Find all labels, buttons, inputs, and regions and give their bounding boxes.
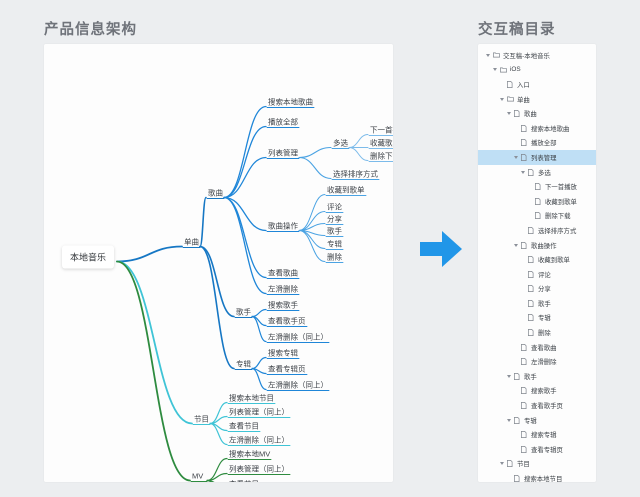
mindmap-node[interactable]: 列表管理 (268, 149, 298, 157)
chevron-down-icon[interactable] (505, 419, 512, 422)
file-icon (519, 139, 529, 146)
mindmap-node[interactable]: 搜索歌手 (268, 301, 298, 309)
mindmap-node[interactable]: 收藏到歌单 (327, 186, 365, 194)
tree-row[interactable]: 歌曲 (478, 106, 596, 121)
mindmap-node[interactable]: 选择排序方式 (333, 170, 378, 178)
tree-row-label: 下一首播放 (545, 182, 577, 191)
tree-row-label: 歌曲 (524, 109, 537, 118)
tree-row-label: 搜索本地节目 (524, 474, 562, 482)
caret-glyph (493, 68, 497, 71)
caret-glyph (514, 244, 518, 247)
mindmap-node[interactable]: 列表管理（同上） (229, 408, 289, 416)
tree-row[interactable]: 收藏到歌单 (478, 194, 596, 209)
tree-row-label: 单曲 (517, 95, 530, 104)
tree-row[interactable]: 搜索歌手 (478, 384, 596, 399)
caret-glyph (507, 112, 511, 115)
mindmap-canvas[interactable]: 本地音乐 搜索本地歌曲播放全部列表管理多选下一首播放收藏歌单删除下载选择排序方式… (44, 44, 393, 482)
tree-row-label: 评论 (538, 270, 551, 279)
right-arrow-icon (418, 226, 464, 277)
file-icon (519, 446, 529, 453)
file-icon (526, 300, 536, 307)
mindmap-node[interactable]: 列表管理（同上） (229, 465, 289, 473)
tree-row-label: 查看歌手页 (531, 401, 563, 410)
tree-row-label: 播放全部 (531, 138, 557, 147)
mindmap-node[interactable]: 查看歌曲 (268, 269, 298, 277)
tree-row[interactable]: 交互稿-本地音乐 (478, 48, 596, 63)
tree-row[interactable]: 下一首播放 (478, 179, 596, 194)
chevron-down-icon[interactable] (491, 68, 498, 71)
mindmap-node[interactable]: 专辑 (236, 360, 251, 368)
tree-row[interactable]: 查看歌曲 (478, 340, 596, 355)
caret-glyph (507, 375, 511, 378)
file-icon (526, 314, 536, 321)
mindmap-node[interactable]: 删除下载 (370, 152, 393, 160)
tree-row-label: 收藏到歌单 (538, 255, 570, 264)
mindmap-node[interactable]: 多选 (333, 139, 348, 147)
mindmap-node[interactable]: 删除 (327, 253, 342, 261)
tree-row[interactable]: 播放全部 (478, 136, 596, 151)
mindmap-node[interactable]: 歌手 (236, 308, 251, 316)
tree-row-label: 搜索专辑 (531, 430, 557, 439)
mindmap-node[interactable]: 查看歌手页 (268, 317, 306, 325)
tree-row[interactable]: 左滑删除 (478, 354, 596, 369)
file-icon (519, 402, 529, 409)
file-icon (519, 344, 529, 351)
tree-row-label: 查看歌曲 (531, 343, 557, 352)
tree-row[interactable]: 节目 (478, 457, 596, 472)
tree-row-label: 歌曲操作 (531, 241, 557, 250)
mindmap-node[interactable]: 专辑 (327, 240, 342, 248)
tree-row[interactable]: iOS (478, 63, 596, 78)
tree-row-label: 选择排序方式 (538, 226, 576, 235)
tree-row-label: 歌手 (524, 372, 537, 381)
mindmap-node[interactable]: 收藏歌单 (370, 139, 393, 147)
tree-row-label: 专辑 (524, 416, 537, 425)
folder-open-icon (498, 67, 508, 73)
mindmap-node[interactable]: 搜索本地歌曲 (268, 98, 313, 106)
tree-row-label: 搜索本地歌曲 (531, 124, 569, 133)
tree-row-label: 交互稿-本地音乐 (503, 51, 550, 60)
tree-row[interactable]: 选择排序方式 (478, 223, 596, 238)
chevron-down-icon[interactable] (519, 171, 526, 174)
chevron-down-icon[interactable] (512, 156, 519, 159)
file-icon (526, 256, 536, 263)
mindmap-node[interactable]: 查看专辑页 (268, 365, 306, 373)
caret-glyph (507, 419, 511, 422)
mindmap-node[interactable]: 搜索专辑 (268, 349, 298, 357)
mindmap-node[interactable]: 左滑删除（同上） (268, 333, 328, 341)
file-icon (526, 285, 536, 292)
caret-glyph (500, 98, 504, 101)
chevron-down-icon[interactable] (505, 375, 512, 378)
chevron-down-icon[interactable] (512, 244, 519, 247)
file-icon (519, 387, 529, 394)
caret-glyph (500, 462, 504, 465)
file-icon (519, 125, 529, 132)
tree-row-label: 搜索歌手 (531, 386, 557, 395)
mindmap-node[interactable]: 歌手 (327, 227, 342, 235)
mindmap-node[interactable]: 播放全部 (268, 118, 298, 126)
caret-glyph (514, 156, 518, 159)
file-icon (505, 460, 515, 467)
tree-row[interactable]: 删除 (478, 325, 596, 340)
caret-glyph (486, 54, 490, 57)
mindmap-node[interactable]: 歌曲操作 (268, 222, 298, 230)
file-icon (526, 227, 536, 234)
chevron-down-icon[interactable] (505, 112, 512, 115)
tree-row-label: 入口 (517, 80, 530, 89)
mindmap-node[interactable]: 搜索本地MV (229, 450, 270, 458)
tree-row[interactable]: 评论 (478, 267, 596, 282)
tree-row[interactable]: 分享 (478, 282, 596, 297)
tree-row-label: 收藏到歌单 (545, 197, 577, 206)
tree-row-label: 查看专辑页 (531, 445, 563, 454)
mindmap-node[interactable]: 歌曲 (208, 189, 223, 197)
caret-glyph (521, 171, 525, 174)
folder-open-icon (505, 96, 515, 102)
tree-row-label: 多选 (538, 168, 551, 177)
mindmap-root-node[interactable]: 本地音乐 (62, 246, 114, 269)
tree-row[interactable]: 搜索本地歌曲 (478, 121, 596, 136)
mindmap-node[interactable]: 节目 (194, 415, 209, 423)
file-icon (519, 431, 529, 438)
mindmap-node[interactable]: 左滑删除 (268, 285, 298, 293)
interaction-doc-tree[interactable]: 交互稿-本地音乐iOS入口单曲歌曲搜索本地歌曲播放全部列表管理多选下一首播放收藏… (478, 44, 596, 482)
file-icon (512, 417, 522, 424)
tree-row-label: 删除下载 (545, 211, 571, 220)
file-icon (533, 198, 543, 205)
tree-row[interactable]: 歌曲操作 (478, 238, 596, 253)
tree-row-label: 分享 (538, 284, 551, 293)
tree-row[interactable]: 查看专辑页 (478, 442, 596, 457)
file-icon (526, 329, 536, 336)
tree-row-label: iOS (510, 66, 521, 73)
tree-row[interactable]: 专辑 (478, 311, 596, 326)
file-icon (512, 475, 522, 482)
chevron-down-icon[interactable] (498, 98, 505, 101)
tree-row[interactable]: 列表管理 (478, 150, 596, 165)
file-icon (505, 81, 515, 88)
tree-row[interactable]: 入口 (478, 77, 596, 92)
mindmap-node[interactable]: 分享 (327, 215, 342, 223)
mindmap-node[interactable]: 查看节目 (229, 480, 259, 482)
mindmap-node[interactable]: 单曲 (184, 238, 199, 246)
tree-row-label: 左滑删除 (531, 357, 557, 366)
mindmap-node[interactable]: 查看节目 (229, 422, 259, 430)
tree-row-label: 专辑 (538, 313, 551, 322)
tree-row-label: 节目 (517, 459, 530, 468)
mindmap-node[interactable]: 评论 (327, 203, 342, 211)
tree-row[interactable]: 单曲 (478, 92, 596, 107)
tree-row[interactable]: 搜索本地节目 (478, 471, 596, 482)
tree-row[interactable]: 专辑 (478, 413, 596, 428)
folder-open-icon (491, 52, 501, 58)
file-icon (512, 110, 522, 117)
file-icon (519, 154, 529, 161)
tree-row[interactable]: 删除下载 (478, 209, 596, 224)
file-icon (526, 169, 536, 176)
tree-row[interactable]: 搜索专辑 (478, 427, 596, 442)
file-icon (533, 183, 543, 190)
tree-row[interactable]: 歌手 (478, 369, 596, 384)
file-icon (519, 242, 529, 249)
tree-row-label: 删除 (538, 328, 551, 337)
mindmap-node[interactable]: 左滑删除（同上） (268, 381, 328, 389)
chevron-down-icon[interactable] (484, 54, 491, 57)
tree-row[interactable]: 查看歌手页 (478, 398, 596, 413)
tree-row-label: 歌手 (538, 299, 551, 308)
file-icon (519, 358, 529, 365)
mindmap-node[interactable]: 搜索本地节目 (229, 394, 274, 402)
left-panel-title: 产品信息架构 (44, 18, 137, 39)
chevron-down-icon[interactable] (498, 462, 505, 465)
mindmap-node[interactable]: 左滑删除（同上） (229, 436, 289, 444)
file-icon (526, 271, 536, 278)
file-icon (512, 373, 522, 380)
mindmap-node[interactable]: MV (192, 472, 203, 480)
mindmap-node[interactable]: 下一首播放 (370, 126, 393, 134)
tree-row-label: 列表管理 (531, 153, 557, 162)
tree-row[interactable]: 多选 (478, 165, 596, 180)
right-panel-title: 交互稿目录 (478, 18, 556, 39)
file-icon (533, 212, 543, 219)
tree-row[interactable]: 收藏到歌单 (478, 252, 596, 267)
tree-row[interactable]: 歌手 (478, 296, 596, 311)
screenshot-root: 产品信息架构 交互稿目录 本地音乐 搜索本地歌曲播放全部列表管理多选下一首播放收… (0, 0, 640, 497)
